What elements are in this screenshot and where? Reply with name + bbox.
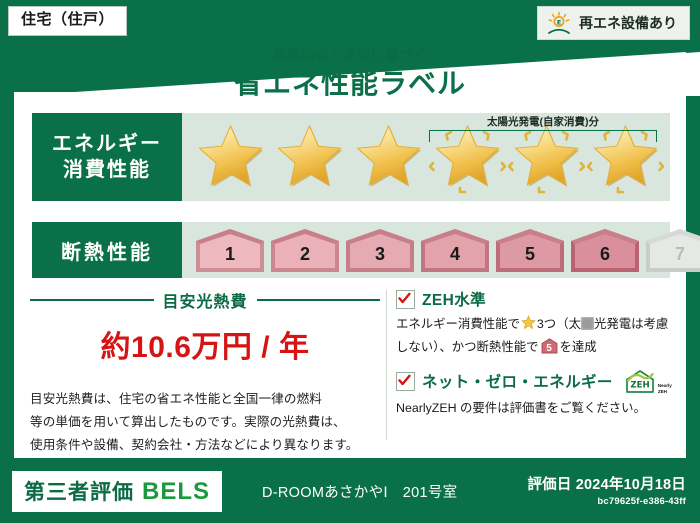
insulation-level-badge: 7 — [644, 227, 700, 274]
insulation-level-value: 5 — [494, 244, 566, 265]
evaluation-info: 評価日 2024年10月18日 bc79625f-e386-43ff — [527, 473, 686, 507]
insulation-level-value: 7 — [644, 244, 700, 265]
cost-note-line1: 目安光熱費は、住宅の省エネ性能と全国一律の燃料 — [30, 388, 380, 411]
energy-performance-value: 太陽光発電(自家消費)分 — [182, 113, 670, 201]
solar-sun-icon: E — [546, 11, 572, 35]
property-name: D-ROOMあさかやⅠ 201号室 — [262, 481, 457, 502]
insulation-level-value: 2 — [269, 244, 341, 265]
zeh-standard-title: ZEH水準 — [422, 288, 486, 310]
zeh-standard-title-row: ZEH水準 — [396, 288, 672, 310]
cost-note-line2: 等の単価を用いて算出したものです。実際の光熱費は、 — [30, 411, 380, 434]
column-divider — [386, 290, 387, 440]
cost-note-line3: 使用条件や設備、契約会社・方法などにより異なります。 — [30, 434, 380, 457]
insulation-level-badge: 1 — [194, 227, 266, 274]
zeh-desc-part-a: エネルギー消費性能で — [396, 317, 520, 331]
insulation-performance-value: 1 2 3 4 5 6 — [182, 222, 670, 278]
badge-renewable-equipment: E 再エネ設備あり — [537, 6, 690, 40]
insulation-level-badge: 5 — [494, 227, 566, 274]
insulation-label: 断熱性能 — [61, 236, 153, 265]
svg-text:ZEH: ZEH — [630, 380, 649, 390]
utility-cost-note: 目安光熱費は、住宅の省エネ性能と全国一律の燃料 等の単価を用いて算出したものです… — [30, 388, 380, 457]
cost-rule-right — [257, 299, 381, 301]
label-subtitle: 建築物省エネ法に基づく — [0, 44, 700, 64]
insulation-level-value: 6 — [569, 244, 641, 265]
bels-jp-label: 第三者評価 — [24, 476, 134, 506]
zeh-section: ZEH水準 エネルギー消費性能で3つ（太光発電は考慮しない）、かつ断熱性能で5を… — [396, 288, 672, 429]
badge-renewable-label: 再エネ設備あり — [579, 13, 677, 33]
insulation-level-value: 3 — [344, 244, 416, 265]
solar-bracket-label: 太陽光発電(自家消費)分 — [427, 114, 659, 129]
badge-house-type: 住宅（住戸） — [8, 6, 127, 36]
label-title: 省エネ性能ラベル — [0, 62, 700, 102]
redacted-character — [581, 317, 594, 330]
zeh-netzero-block: ネット・ゼロ・エネルギー ZEH Nearly ZEH NearlyZEH の要… — [396, 369, 672, 419]
zeh-standard-description: エネルギー消費性能で3つ（太光発電は考慮しない）、かつ断熱性能で5を達成 — [396, 314, 672, 359]
badge-house-type-label: 住宅（住戸） — [21, 11, 114, 28]
inline-star-icon — [521, 315, 536, 337]
inline-insulation-badge: 5 — [541, 338, 558, 354]
check-icon — [396, 290, 415, 309]
insulation-level-value: 4 — [419, 244, 491, 265]
check-icon — [396, 372, 415, 391]
inline-insulation-badge-value: 5 — [541, 340, 558, 357]
svg-text:E: E — [557, 19, 561, 27]
bels-en-label: BELS — [142, 478, 210, 506]
insulation-level-badge: 4 — [419, 227, 491, 274]
zeh-netzero-title: ネット・ゼロ・エネルギー — [422, 370, 613, 392]
solar-generation-bracket: 太陽光発電(自家消費)分 — [427, 115, 659, 143]
star-icon — [271, 120, 348, 194]
energy-label-line1: エネルギー — [52, 131, 162, 157]
star-icon — [192, 120, 269, 194]
energy-label-line2: 消費性能 — [63, 157, 151, 183]
energy-performance-row: エネルギー 消費性能 — [32, 113, 670, 201]
zeh-netzero-title-row: ネット・ゼロ・エネルギー ZEH Nearly ZEH — [396, 369, 672, 394]
zeh-desc-part-c: 光発電 — [594, 317, 631, 331]
insulation-performance-row: 断熱性能 1 2 3 4 5 — [32, 222, 670, 278]
footer-bar: 第三者評価 BELS D-ROOMあさかやⅠ 201号室 評価日 2024年10… — [0, 461, 700, 523]
cost-heading-text: 目安光熱費 — [163, 288, 248, 312]
utility-cost-heading: 目安光熱費 — [30, 288, 380, 312]
zeh-netzero-description: NearlyZEH の要件は評価書をご覧ください。 — [396, 398, 672, 419]
insulation-level-scale: 1 2 3 4 5 6 — [182, 222, 670, 278]
evaluation-date: 評価日 2024年10月18日 — [527, 473, 686, 494]
zeh-house-logo-icon: ZEH Nearly ZEH — [624, 369, 672, 394]
energy-performance-label: 住宅（住戸） E 再エネ設備あり 建築物省エネ法に基づく 省エネ性能ラベル — [0, 0, 700, 523]
zeh-logo-mini-line2: ZEH — [658, 389, 667, 394]
insulation-performance-row-label: 断熱性能 — [32, 222, 182, 278]
zeh-standard-block: ZEH水準 エネルギー消費性能で3つ（太光発電は考慮しない）、かつ断熱性能で5を… — [396, 288, 672, 359]
utility-cost-section: 目安光熱費 約10.6万円 / 年 目安光熱費は、住宅の省エネ性能と全国一律の燃… — [30, 288, 380, 457]
energy-performance-row-label: エネルギー 消費性能 — [32, 113, 182, 201]
solar-bracket-line — [429, 130, 657, 142]
insulation-level-badge: 2 — [269, 227, 341, 274]
zeh-desc-part-e: を達成 — [560, 340, 597, 354]
star-icon — [350, 120, 427, 194]
utility-cost-amount: 約10.6万円 / 年 — [30, 322, 380, 366]
insulation-level-value: 1 — [194, 244, 266, 265]
insulation-level-badge: 3 — [344, 227, 416, 274]
insulation-level-badge: 6 — [569, 227, 641, 274]
bels-certification-badge: 第三者評価 BELS — [12, 471, 222, 512]
zeh-desc-part-b: 3つ（太 — [537, 317, 581, 331]
zeh-logo-mini-text: Nearly ZEH — [658, 383, 672, 393]
cost-rule-left — [30, 299, 154, 301]
evaluation-id: bc79625f-e386-43ff — [527, 496, 686, 507]
